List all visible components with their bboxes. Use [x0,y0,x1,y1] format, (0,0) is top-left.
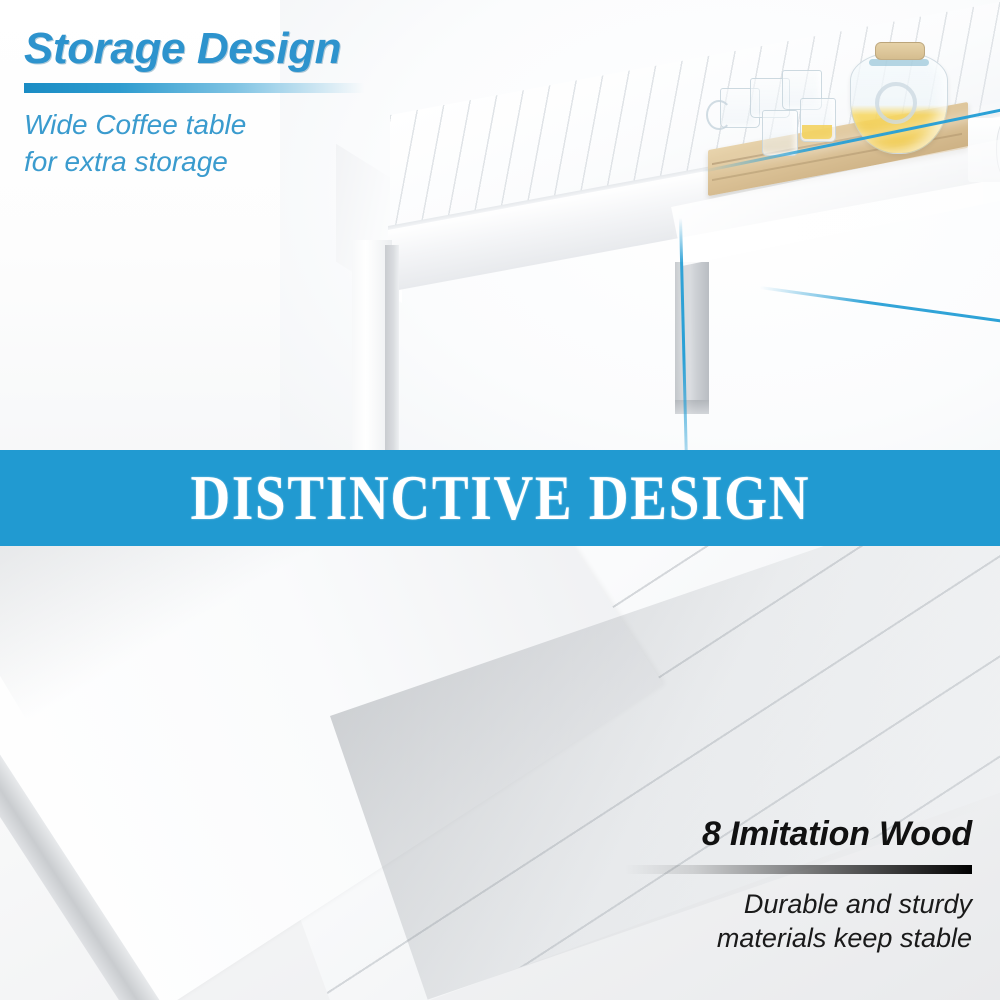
bottom-subtitle: Durable and sturdy materials keep stable [542,887,972,956]
top-heading-rule [24,83,364,93]
accent-line-lower-rail [760,286,1000,371]
glass-cup [762,110,798,156]
banner-text: DISTINCTIVE DESIGN [190,461,810,535]
bottom-heading-rule [624,865,972,874]
top-subtitle-line-1: Wide Coffee table [24,107,424,143]
coffee-table-photo [330,40,1000,452]
pitcher-neck-ring [869,59,929,66]
top-subtitle: Wide Coffee table for extra storage [24,107,424,180]
pitcher-handle [875,82,917,124]
top-subtitle-line-2: for extra storage [24,144,424,180]
top-heading: Storage Design [24,26,424,72]
bottom-headline-block: 8 Imitation Wood Durable and sturdy mate… [542,816,972,956]
table-leg-foot [675,400,709,414]
cup-juice-fill [802,125,832,139]
bottom-feature-panel: 8 Imitation Wood Durable and sturdy mate… [0,546,1000,1000]
promo-image: Storage Design Wide Coffee table for ext… [0,0,1000,1000]
distinctive-design-banner: DISTINCTIVE DESIGN [0,450,1000,546]
top-headline-block: Storage Design Wide Coffee table for ext… [24,26,424,180]
bottom-heading: 8 Imitation Wood [542,816,972,853]
table-leg-inner-left [385,245,399,452]
bottom-subtitle-line-2: materials keep stable [542,921,972,956]
pitcher-wood-lid [875,42,925,60]
cup-handle [706,100,732,130]
bottom-subtitle-line-1: Durable and sturdy [542,887,972,922]
top-feature-panel: Storage Design Wide Coffee table for ext… [0,0,1000,452]
